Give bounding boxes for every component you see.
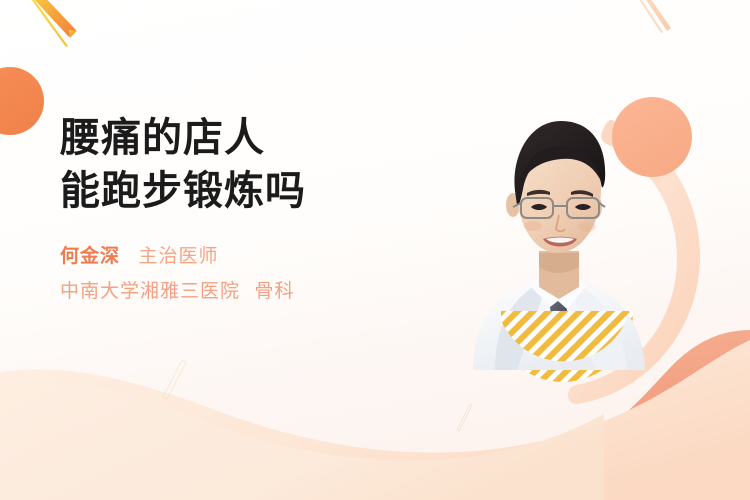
doctor-credit: 何金深 主治医师 中南大学湘雅三医院 骨科	[60, 240, 440, 310]
orange-circle-left	[0, 67, 44, 135]
doctor-hospital: 中南大学湘雅三医院	[60, 281, 240, 302]
doctor-name: 何金深	[60, 246, 120, 267]
page-title-line-2: 能跑步锻炼吗	[60, 164, 440, 218]
video-cover-card: 腰痛的店人 能跑步锻炼吗 何金深 主治医师 中南大学湘雅三医院 骨科	[0, 0, 750, 500]
peach-streak-top-right	[642, 0, 671, 31]
cover-text-block: 腰痛的店人 能跑步锻炼吗 何金深 主治医师 中南大学湘雅三医院 骨科	[60, 112, 440, 310]
page-title-line-1: 腰痛的店人	[60, 112, 440, 164]
doctor-title: 主治医师	[138, 246, 218, 267]
doctor-credit-row-1: 何金深 主治医师	[60, 240, 440, 275]
doctor-credit-row-2: 中南大学湘雅三医院 骨科	[60, 275, 440, 310]
orange-streak-top-left-tail	[69, 30, 77, 38]
doctor-department: 骨科	[254, 281, 294, 302]
